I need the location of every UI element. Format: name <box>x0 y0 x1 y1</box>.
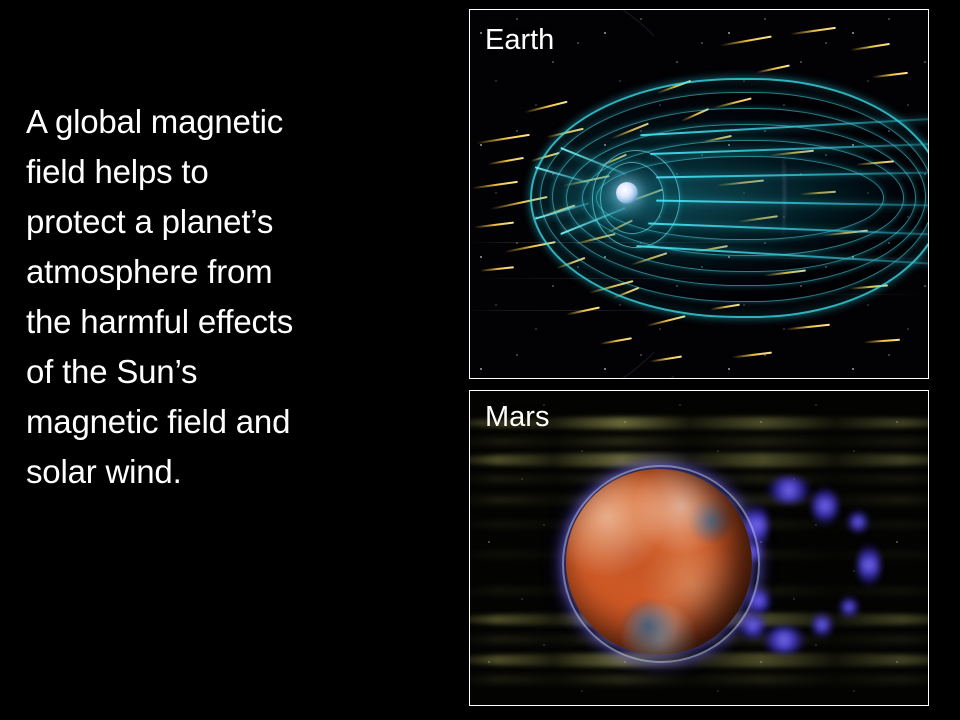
mars-figure: Mars <box>469 390 929 706</box>
slide-canvas: A global magnetic field helps to protect… <box>0 0 960 720</box>
solar-wind-band <box>470 453 928 467</box>
crustal-field-plasma <box>748 587 770 615</box>
mars-planet <box>566 469 752 655</box>
crustal-field-plasma <box>812 613 832 637</box>
crustal-field-plasma <box>762 627 806 653</box>
slide-body-text: A global magnetic field helps to protect… <box>26 97 426 497</box>
crustal-field-plasma <box>740 613 766 639</box>
crustal-field-plasma <box>840 597 858 617</box>
earth-figure: Earth <box>469 9 929 379</box>
crustal-field-plasma <box>766 477 812 503</box>
solar-wind-band <box>470 675 928 684</box>
earth-planet <box>616 182 638 204</box>
earth-figure-label: Earth <box>485 24 554 56</box>
crustal-field-plasma <box>812 487 838 525</box>
mars-figure-label: Mars <box>485 401 549 433</box>
solar-wind-band <box>470 653 928 667</box>
crustal-field-plasma <box>858 543 880 587</box>
mars-solar-wind-illustration: Mars <box>470 391 928 705</box>
crustal-field-plasma <box>848 511 868 533</box>
magnetosphere-field-lines <box>530 78 928 314</box>
earth-magnetosphere-illustration: Earth <box>470 10 928 378</box>
solar-wind-band <box>470 437 928 446</box>
